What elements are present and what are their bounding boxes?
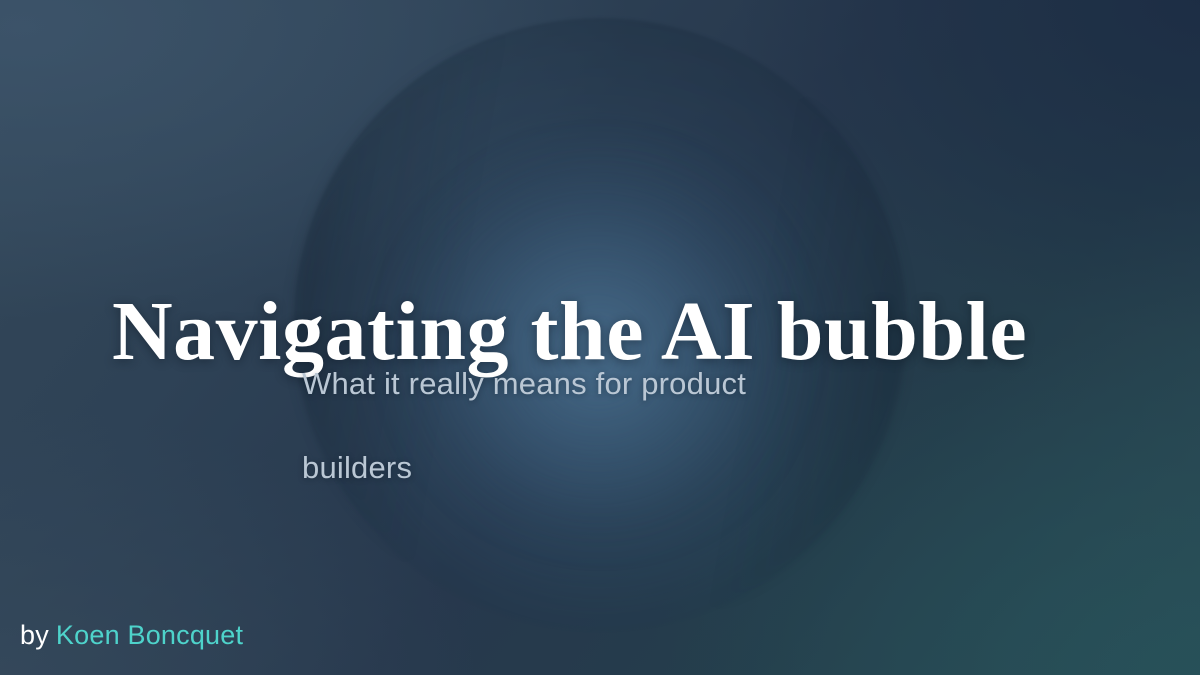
byline-author-name: Koen Boncquet	[56, 620, 243, 651]
slide-content: Navigating the AI bubble What it really …	[0, 0, 1200, 675]
subtitle-line-1: What it really means for product	[302, 342, 862, 426]
subtitle-line-2: builders	[302, 426, 862, 510]
byline: by Koen Boncquet	[20, 620, 243, 651]
slide-subtitle: What it really means for product builder…	[302, 342, 862, 510]
byline-prefix: by	[20, 620, 49, 651]
title-slide: Navigating the AI bubble What it really …	[0, 0, 1200, 675]
